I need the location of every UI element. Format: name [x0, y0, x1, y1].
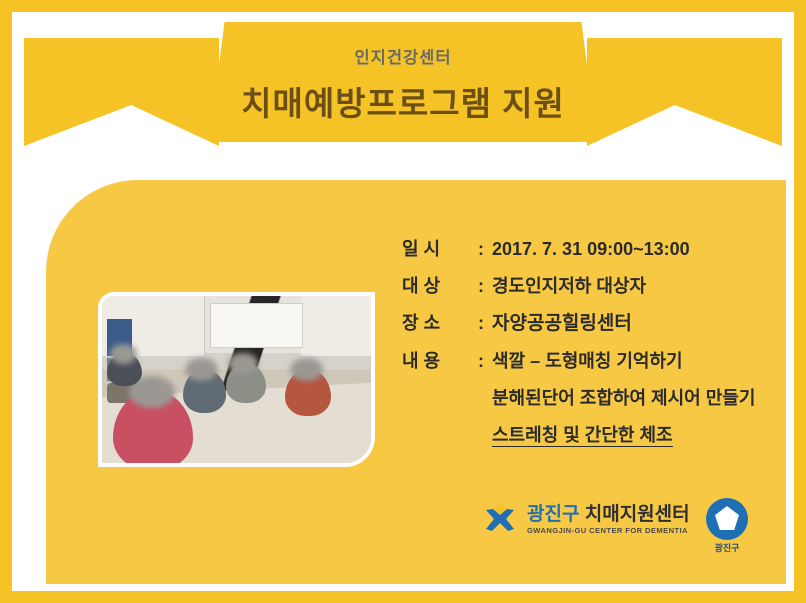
info-content-line-2: 분해된단어 조합하여 제시어 만들기 [492, 389, 774, 407]
banner-title: 치매예방프로그램 지원 [209, 77, 597, 125]
info-value: 색깔 – 도형매칭 기억하기 [492, 352, 774, 370]
gwangjin-gu-emblem: 광진구 [705, 498, 749, 554]
banner-subtitle: 인지건강센터 [209, 44, 597, 68]
program-activity-photo [98, 292, 375, 467]
info-label: 일 시 [402, 240, 478, 258]
ribbon-tail-right [587, 38, 782, 146]
info-colon: : [478, 277, 492, 295]
info-label: 내 용 [402, 352, 478, 370]
gwangjin-gu-label: 광진구 [705, 541, 749, 554]
info-content-text: 분해된단어 조합하여 제시어 만들기 [492, 388, 755, 408]
info-content-text: 스트레칭 및 간단한 체조 [492, 425, 673, 447]
logo-text: 광진구 치매지원센터 GWANGJIN-GU CENTER FOR DEMENT… [527, 505, 690, 535]
logo-name-english: GWANGJIN-GU CENTER FOR DEMENTIA [527, 527, 690, 535]
info-block: 일 시 : 2017. 7. 31 09:00~13:00 대 상 : 경도인지… [402, 240, 774, 463]
info-row-target: 대 상 : 경도인지저하 대상자 [402, 277, 774, 295]
logo-name: 광진구 치매지원센터 [527, 505, 690, 525]
ribbon-center: 인지건강센터 치매예방프로그램 지원 [209, 22, 597, 142]
info-row-content: 내 용 : 색깔 – 도형매칭 기억하기 [402, 352, 774, 370]
info-colon: : [478, 314, 492, 332]
ribbon-tail-left [24, 38, 219, 146]
logo-name-main: 치매지원센터 [585, 504, 690, 525]
info-value: 2017. 7. 31 09:00~13:00 [492, 240, 774, 258]
photo-image [102, 296, 371, 463]
info-content-line-3: 스트레칭 및 간단한 체조 [492, 426, 774, 444]
info-row-place: 장 소 : 자양공공힐링센터 [402, 314, 774, 333]
poster-root: 인지건강센터 치매예방프로그램 지원 [0, 0, 806, 603]
person-star-logo-icon [480, 500, 520, 540]
banner-ribbon: 인지건강센터 치매예방프로그램 지원 [24, 22, 782, 142]
info-value: 자양공공힐링센터 [492, 314, 774, 333]
info-row-date: 일 시 : 2017. 7. 31 09:00~13:00 [402, 240, 774, 258]
gwangjin-gu-emblem-icon [706, 498, 748, 540]
info-value: 경도인지저하 대상자 [492, 277, 774, 295]
logo-name-prefix: 광진구 [527, 504, 579, 525]
info-colon: : [478, 240, 492, 258]
info-colon: : [478, 352, 492, 370]
organization-logo: 광진구 치매지원센터 GWANGJIN-GU CENTER FOR DEMENT… [480, 500, 690, 540]
info-label: 장 소 [402, 314, 478, 332]
info-label: 대 상 [402, 277, 478, 295]
